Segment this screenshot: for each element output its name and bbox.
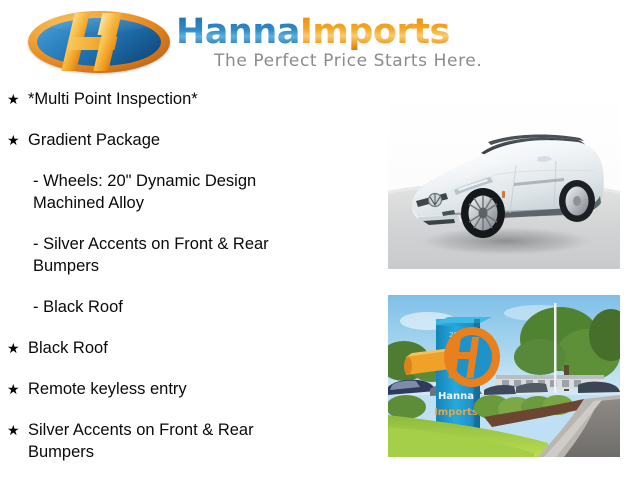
feature-item: - Black Roof (0, 296, 372, 318)
vehicle-listing-slide: HannaImports The Perfect Price Starts He… (0, 0, 640, 480)
feature-item-label: *Multi Point Inspection* (28, 90, 198, 108)
feature-item-label: Black Roof (28, 339, 108, 357)
feature-item: ★Gradient Package (0, 129, 372, 151)
feature-item: - Silver Accents on Front & Rear Bumpers (0, 233, 372, 277)
feature-item-label: Remote keyless entry (28, 380, 187, 398)
star-bullet-icon: ★ (7, 378, 20, 400)
star-bullet-icon: ★ (7, 88, 20, 110)
star-bullet-icon: ★ (7, 419, 20, 441)
svg-text:Imports: Imports (434, 407, 478, 418)
feature-item-label: Silver Accents on Front & Rear Bumpers (28, 421, 254, 461)
vehicle-photo-graphic (388, 95, 620, 269)
feature-item-label: Gradient Package (28, 131, 160, 149)
dealership-photo-graphic: 2801 Hanna Imports (388, 295, 620, 457)
brand-header: HannaImports The Perfect Price Starts He… (0, 0, 640, 88)
wordmark-hanna: Hanna (176, 13, 300, 51)
feature-item-label: - Black Roof (33, 298, 123, 316)
brand-tagline: The Perfect Price Starts Here. (214, 51, 482, 71)
feature-item: ★Black Roof (0, 337, 372, 359)
svg-text:Hanna: Hanna (438, 391, 474, 402)
rear-wheel (559, 180, 595, 222)
star-bullet-icon: ★ (7, 129, 20, 151)
wordmark-imports: Imports (300, 13, 450, 51)
brand-wordmark: HannaImports (176, 13, 450, 51)
feature-item: - Wheels: 20" Dynamic Design Machined Al… (0, 170, 372, 214)
logo-h-letter-icon (64, 13, 130, 71)
vehicle-photo[interactable] (388, 95, 620, 269)
front-wheel (461, 188, 505, 238)
feature-list: ★*Multi Point Inspection*★Gradient Packa… (0, 88, 372, 480)
feature-item: ★Remote keyless entry (0, 378, 372, 400)
hanna-oval-h-logo-icon (28, 11, 170, 73)
feature-item-label: - Wheels: 20" Dynamic Design Machined Al… (33, 172, 256, 212)
feature-item: ★Silver Accents on Front & Rear Bumpers (0, 419, 372, 463)
feature-item-label: - Silver Accents on Front & Rear Bumpers (33, 235, 269, 275)
feature-item: ★*Multi Point Inspection* (0, 88, 372, 110)
dealership-photo[interactable]: 2801 Hanna Imports (388, 295, 620, 457)
star-bullet-icon: ★ (7, 337, 20, 359)
